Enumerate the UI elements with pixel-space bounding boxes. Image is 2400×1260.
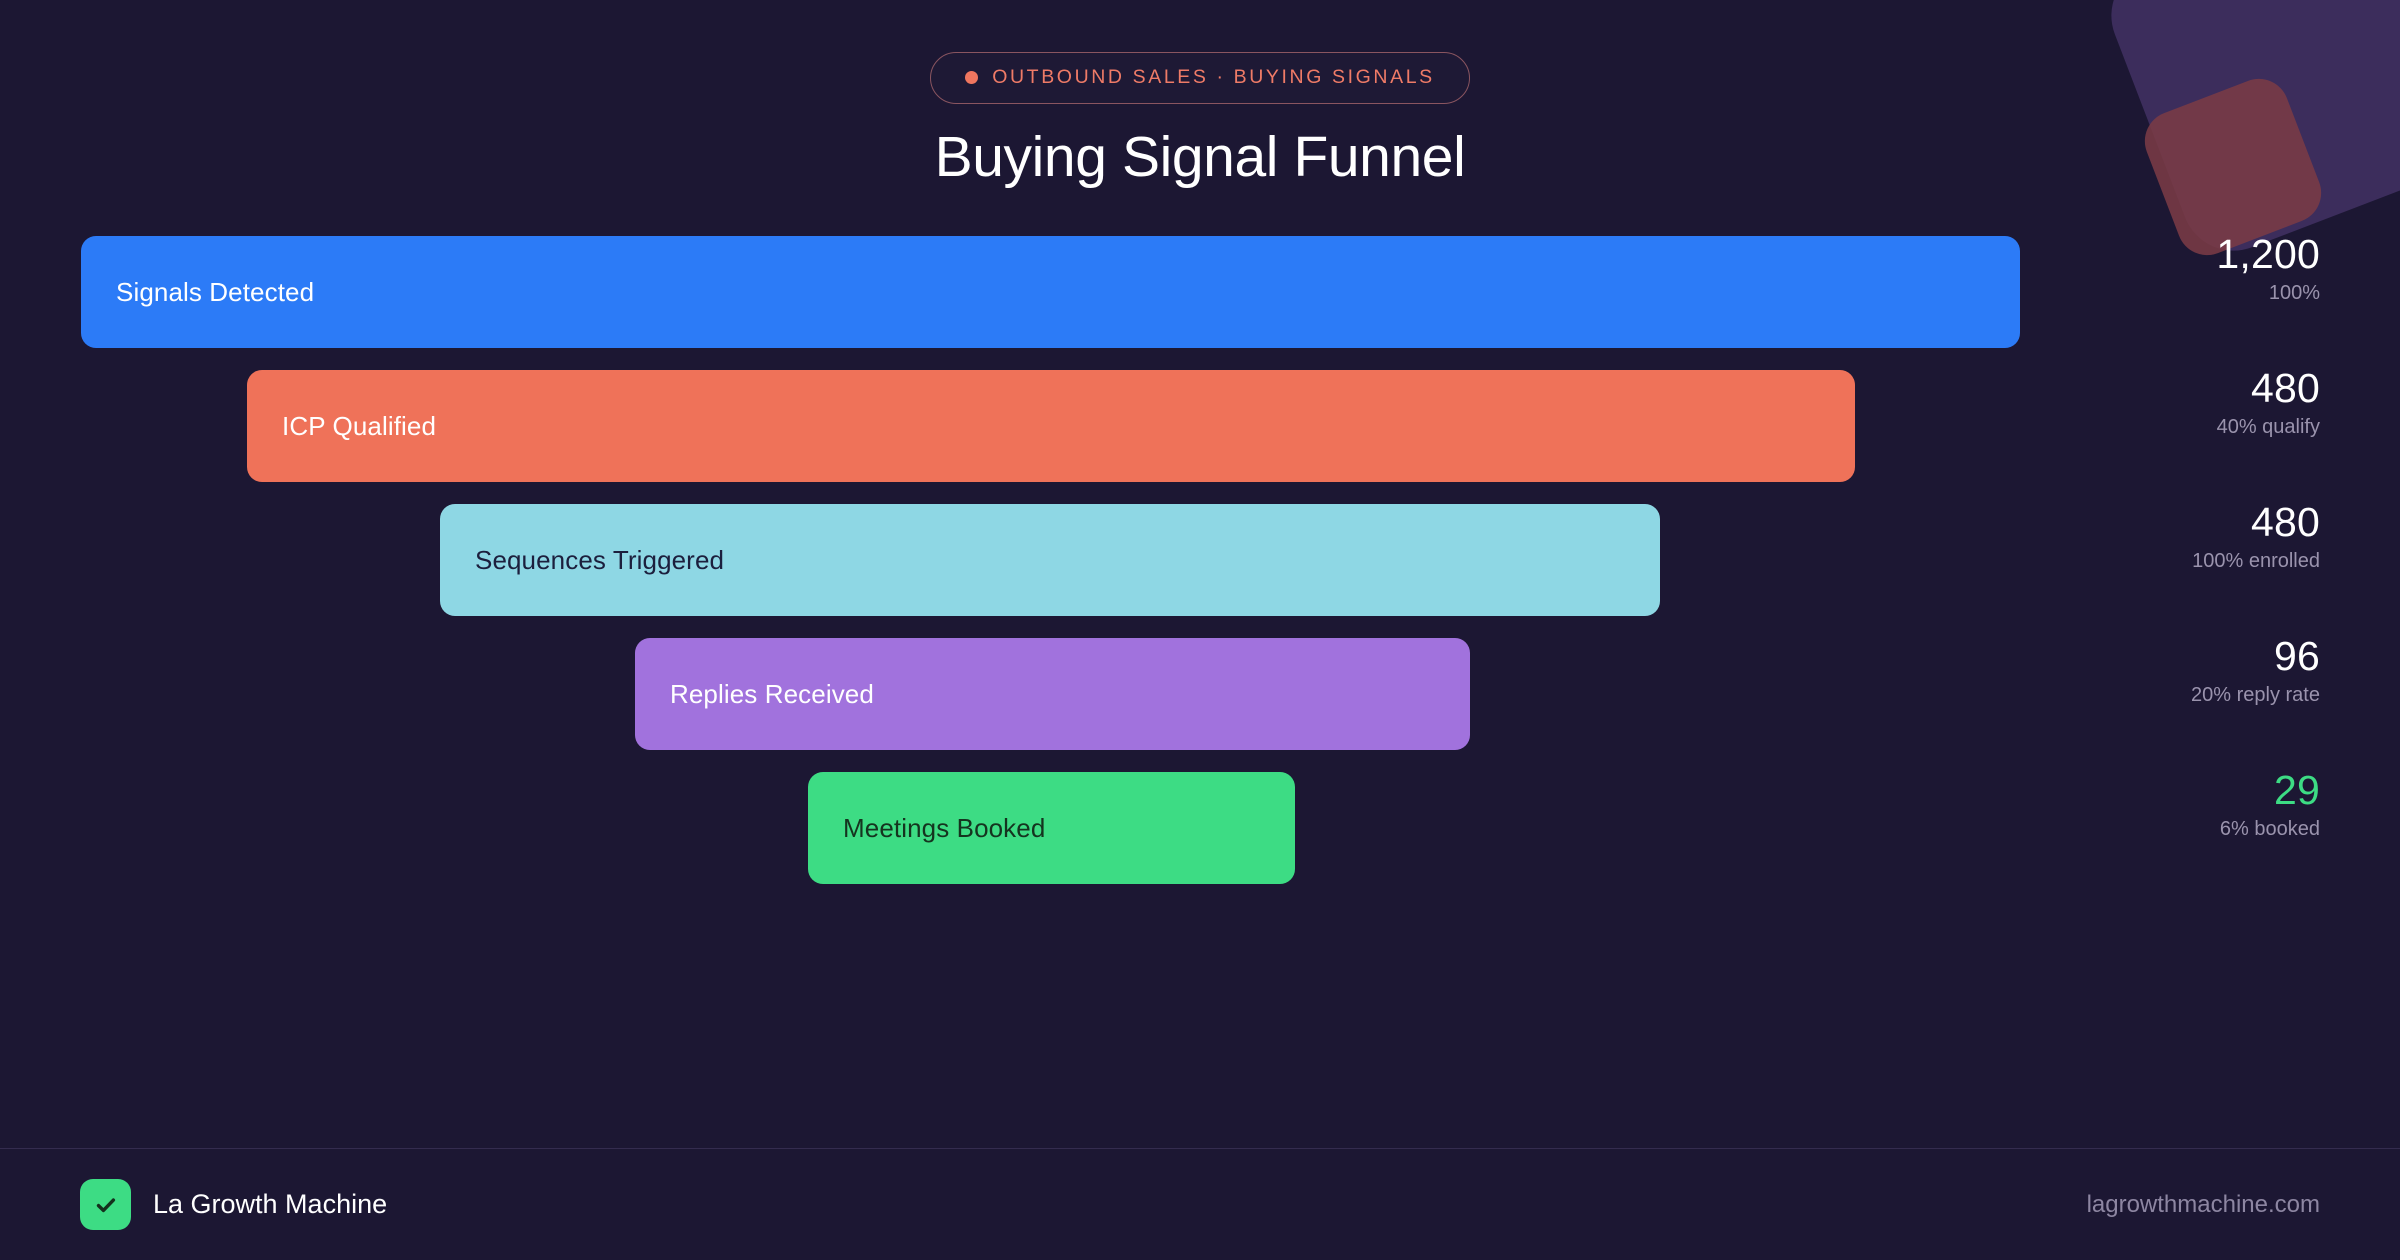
funnel-bar[interactable]: Meetings Booked — [808, 772, 1295, 884]
funnel-metric-value: 1,200 — [1900, 232, 2320, 278]
slide-header: OUTBOUND SALES · BUYING SIGNALS Buying S… — [0, 0, 2400, 189]
funnel-metric-sublabel: 100% enrolled — [1900, 550, 2320, 573]
funnel-metric-value: 480 — [1900, 500, 2320, 546]
funnel-metric: 1,200100% — [1900, 232, 2320, 305]
funnel-metric: 296% booked — [1900, 768, 2320, 841]
funnel-bar[interactable]: ICP Qualified — [247, 370, 1855, 482]
footer-url: lagrowthmachine.com — [2087, 1191, 2320, 1219]
funnel-metric: 48040% qualify — [1900, 366, 2320, 439]
funnel-bar[interactable]: Signals Detected — [81, 236, 2020, 348]
funnel-stage-row: Meetings Booked296% booked — [0, 772, 2400, 884]
funnel-bar-label: Replies Received — [635, 679, 874, 710]
funnel-bar[interactable]: Replies Received — [635, 638, 1470, 750]
category-badge-label: OUTBOUND SALES · BUYING SIGNALS — [992, 66, 1435, 89]
funnel-metric-value: 480 — [1900, 366, 2320, 412]
funnel-metric-sublabel: 6% booked — [1900, 818, 2320, 841]
funnel-bar-label: Meetings Booked — [808, 813, 1045, 844]
funnel-bar-label: Signals Detected — [81, 277, 314, 308]
funnel-bar-label: Sequences Triggered — [440, 545, 724, 576]
funnel-bar[interactable]: Sequences Triggered — [440, 504, 1660, 616]
funnel-stage-row: ICP Qualified48040% qualify — [0, 370, 2400, 482]
category-badge: OUTBOUND SALES · BUYING SIGNALS — [930, 52, 1470, 104]
brand-name: La Growth Machine — [153, 1189, 387, 1220]
funnel-metric-value: 96 — [1900, 634, 2320, 680]
slide-footer: La Growth Machine lagrowthmachine.com — [0, 1149, 2400, 1260]
funnel-bar-label: ICP Qualified — [247, 411, 436, 442]
funnel-metric: 9620% reply rate — [1900, 634, 2320, 707]
slide-canvas: OUTBOUND SALES · BUYING SIGNALS Buying S… — [0, 0, 2400, 1260]
funnel-metric-sublabel: 40% qualify — [1900, 416, 2320, 439]
funnel-metric-sublabel: 100% — [1900, 282, 2320, 305]
funnel-stage-row: Sequences Triggered480100% enrolled — [0, 504, 2400, 616]
funnel-chart: Signals Detected1,200100%ICP Qualified48… — [0, 236, 2400, 906]
status-dot-icon — [965, 71, 978, 84]
funnel-stage-row: Replies Received9620% reply rate — [0, 638, 2400, 750]
funnel-metric: 480100% enrolled — [1900, 500, 2320, 573]
check-badge-icon — [80, 1179, 131, 1230]
page-title: Buying Signal Funnel — [935, 126, 1466, 189]
funnel-metric-sublabel: 20% reply rate — [1900, 684, 2320, 707]
funnel-stage-row: Signals Detected1,200100% — [0, 236, 2400, 348]
funnel-metric-value: 29 — [1900, 768, 2320, 814]
brand: La Growth Machine — [80, 1179, 387, 1230]
